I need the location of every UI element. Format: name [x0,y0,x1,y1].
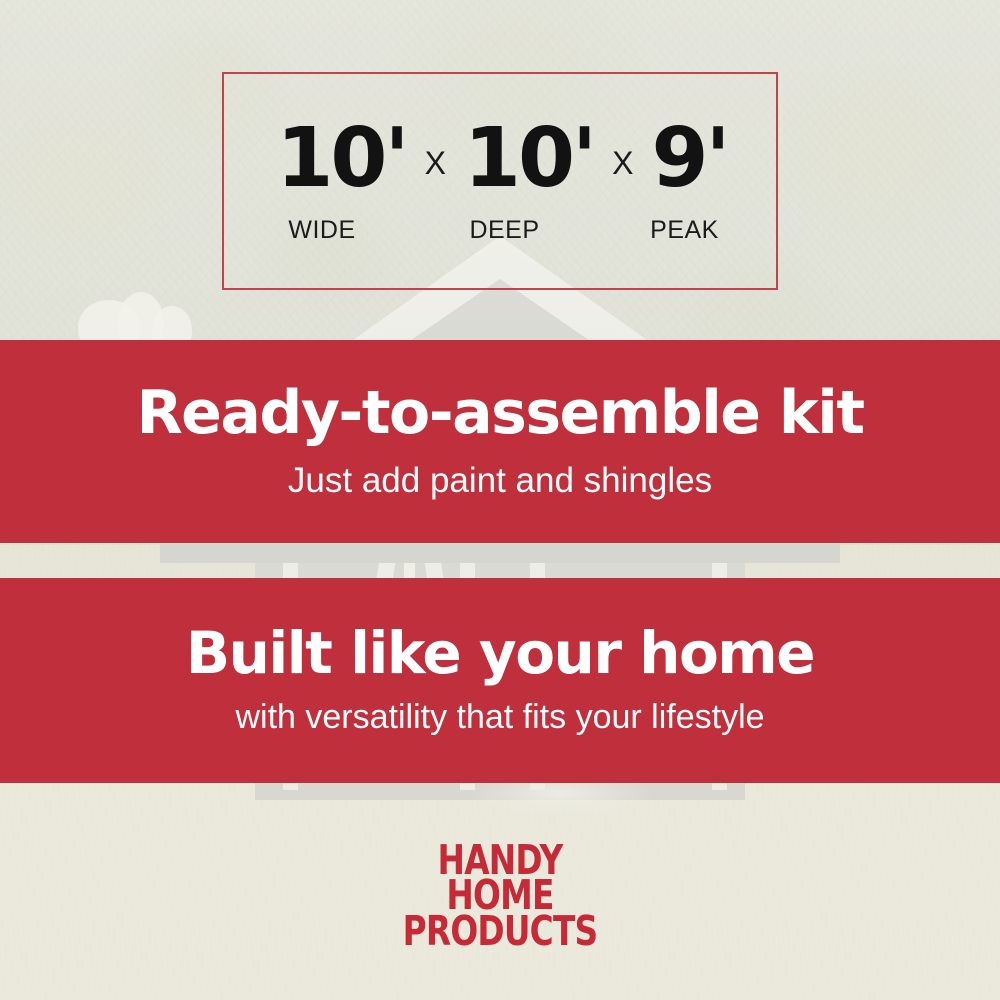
logo-line-products: PRODUCTS [100,914,900,949]
dimension-label-wide: WIDE [235,216,410,245]
dimensions-labels-row: WIDE DEEP PEAK [224,216,780,245]
banner-2-subhead: with versatility that fits your lifestyl… [235,699,764,736]
banner-1-headline: Ready-to-assemble kit [136,383,863,444]
banner-1-subhead: Just add paint and shingles [288,462,712,501]
dimension-separator-1: X [425,145,446,182]
dimension-value-peak: 9' [651,120,727,198]
dimension-value-wide: 10' [276,120,406,198]
dimensions-callout-box: 10' X 10' X 9' WIDE DEEP PEAK [222,72,778,290]
feature-banner-ready-to-assemble: Ready-to-assemble kit Just add paint and… [0,340,1000,543]
dimensions-values-row: 10' X 10' X 9' [224,120,780,198]
dimension-value-deep: 10' [464,120,594,198]
dimension-separator-2: X [612,145,633,182]
dimension-label-peak: PEAK [600,216,770,245]
feature-banner-built-like-your-home: Built like your home with versatility th… [0,578,1000,783]
banner-2-headline: Built like your home [186,624,814,683]
marketing-graphic: 10' X 10' X 9' WIDE DEEP PEAK Ready-to-a… [0,0,1000,1000]
dimension-label-deep: DEEP [410,216,600,245]
handy-home-products-logo: HANDY HOME PRODUCTS [0,843,1000,949]
